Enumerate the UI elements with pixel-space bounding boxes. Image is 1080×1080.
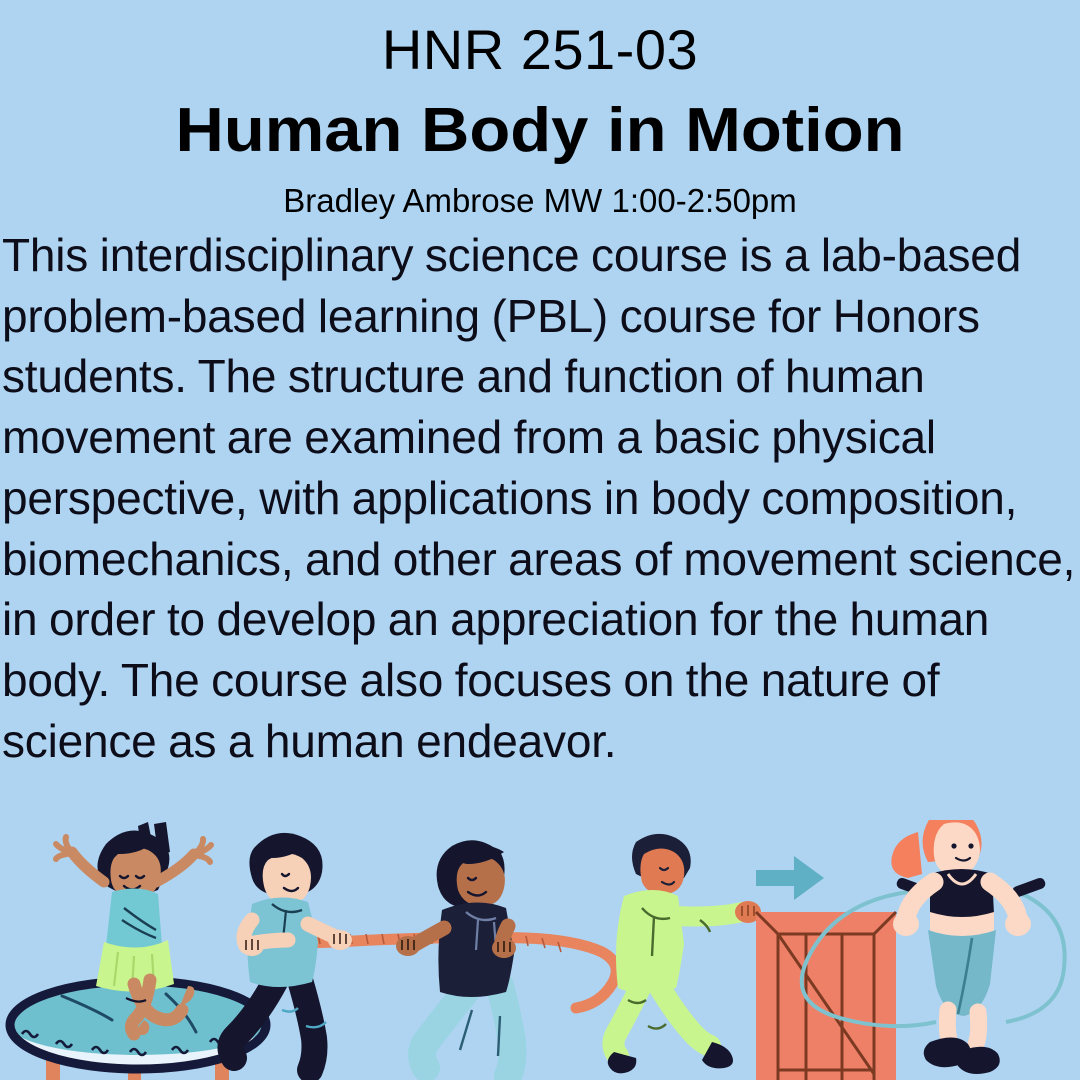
woman-jumping-rope-figure: [891, 820, 1031, 1074]
course-code: HNR 251-03: [0, 22, 1080, 78]
course-description: This interdisciplinary science course is…: [0, 225, 1080, 771]
boy-pushing-crate-figure: [608, 834, 761, 1074]
motion-arrow-icon: [756, 856, 824, 900]
course-title: Human Body in Motion: [0, 100, 1080, 162]
boy-pulling-rope-dark-figure: [396, 840, 516, 1076]
instructor-and-schedule: Bradley Ambrose MW 1:00-2:50pm: [0, 184, 1080, 217]
boy-pulling-rope-blue-figure: [230, 833, 352, 1070]
illustration-band: [0, 820, 1080, 1080]
wooden-crate-prop: [756, 912, 896, 1080]
poster-text-block: HNR 251-03 Human Body in Motion Bradley …: [0, 0, 1080, 771]
course-poster: HNR 251-03 Human Body in Motion Bradley …: [0, 0, 1080, 1080]
